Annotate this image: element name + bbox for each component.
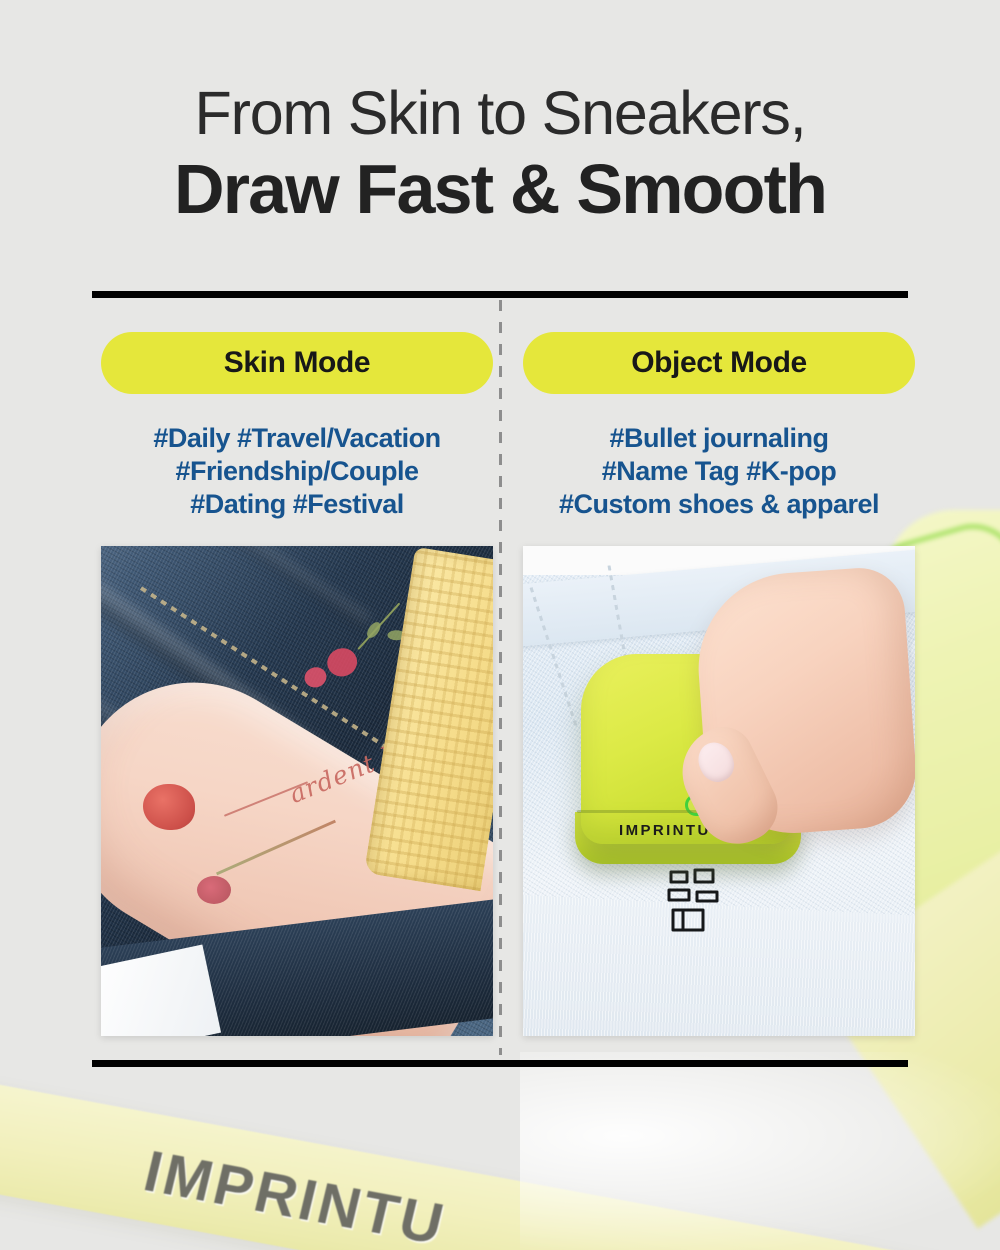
column-divider-dashed [499, 300, 502, 1055]
tag-line: #Bullet journaling [523, 422, 915, 455]
tag-line: #Name Tag #K-pop [523, 455, 915, 488]
printed-artwork [665, 864, 723, 938]
headline-line-2: Draw Fast & Smooth [0, 152, 1000, 228]
device-brand-logo: IMPRINTU [619, 822, 711, 839]
badge-skin-mode: Skin Mode [101, 332, 493, 394]
marketing-page: From Skin to Sneakers, Draw Fast & Smoot… [0, 0, 1000, 1250]
page-title: From Skin to Sneakers, Draw Fast & Smoot… [0, 82, 1000, 228]
photo-scene-arm-denim: ardent love [101, 546, 493, 1036]
column-skin-mode: Skin Mode #Daily #Travel/Vacation #Frien… [101, 300, 493, 522]
headline-line-1: From Skin to Sneakers, [0, 82, 1000, 144]
badge-object-mode: Object Mode [523, 332, 915, 394]
badge-skin-mode-label: Skin Mode [224, 346, 370, 380]
tag-line: #Dating #Festival [101, 488, 493, 521]
photo-skin-mode-tattoo: ardent love [101, 546, 493, 1036]
tattoo-rose [143, 784, 195, 830]
tag-line: #Daily #Travel/Vacation [101, 422, 493, 455]
photo-object-mode-device: IMPRINTU [523, 546, 915, 1036]
tag-line: #Friendship/Couple [101, 455, 493, 488]
tag-list-object-mode: #Bullet journaling #Name Tag #K-pop #Cus… [523, 422, 915, 522]
column-object-mode: Object Mode #Bullet journaling #Name Tag… [523, 300, 915, 522]
divider-rule-top [92, 291, 908, 298]
photo-scene-device-denim: IMPRINTU [523, 546, 915, 1036]
tattoo-lower-flower [197, 876, 231, 904]
tag-line: #Custom shoes & apparel [523, 488, 915, 521]
tag-list-skin-mode: #Daily #Travel/Vacation #Friendship/Coup… [101, 422, 493, 522]
divider-rule-bottom [92, 1060, 908, 1067]
ribbon-brand-text: IMPRINTU [138, 1138, 453, 1250]
white-highlight-sweep [520, 1052, 1000, 1250]
badge-object-mode-label: Object Mode [631, 346, 807, 380]
